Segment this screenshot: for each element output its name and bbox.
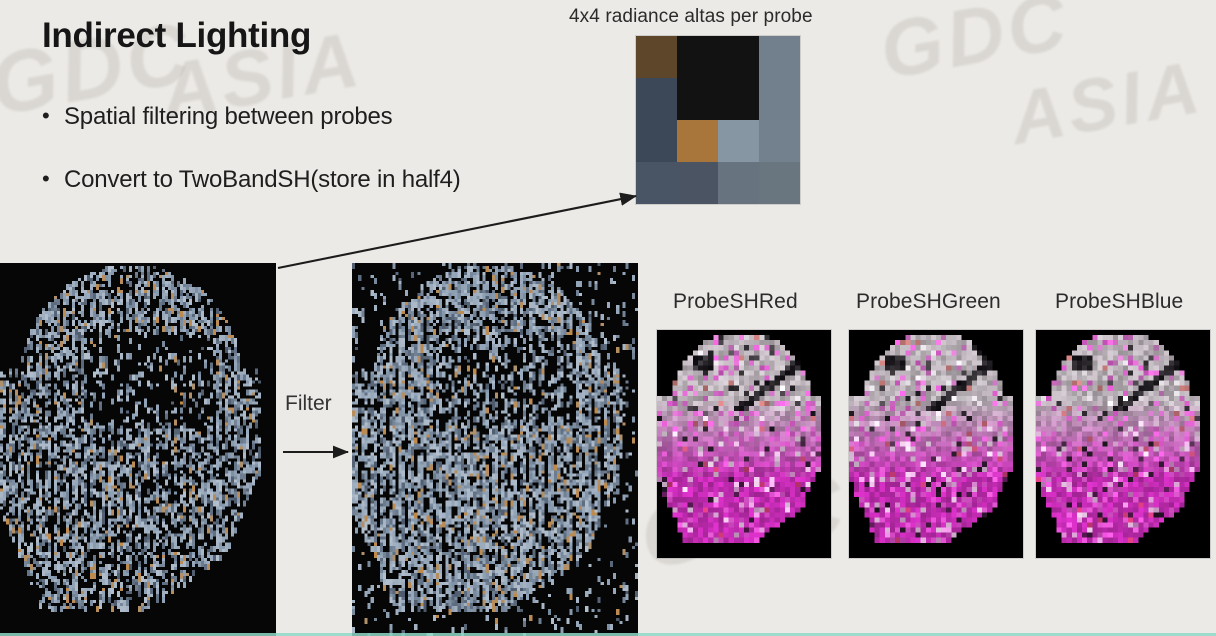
atlas-cell-0 <box>636 36 677 78</box>
atlas-cell-10 <box>718 120 759 162</box>
atlas-cell-2 <box>718 36 759 78</box>
atlas-cell-1 <box>677 36 718 78</box>
slide-canvas: GDC ASIA GDC ASIA GDC Indirect Lighting … <box>0 0 1216 636</box>
sh-label-red: ProbeSHRed <box>673 290 798 314</box>
watermark-3: ASIA <box>1004 44 1209 161</box>
bullet-item-0: • Spatial filtering between probes <box>42 103 392 131</box>
probe-texture-unfiltered-canvas <box>0 263 276 636</box>
atlas-cell-14 <box>718 162 759 204</box>
sh-image-green-canvas <box>849 330 1023 558</box>
atlas-cell-11 <box>759 120 800 162</box>
probe-texture-filtered-canvas <box>352 263 638 636</box>
probe-texture-filtered <box>352 263 638 636</box>
atlas-caption: 4x4 radiance altas per probe <box>569 6 813 28</box>
sh-label-green: ProbeSHGreen <box>856 290 1001 314</box>
page-title: Indirect Lighting <box>42 16 311 56</box>
bullet-text-1: Convert to TwoBandSH(store in half4) <box>64 166 461 194</box>
atlas-cell-7 <box>759 78 800 120</box>
bullet-text-0: Spatial filtering between probes <box>64 103 392 131</box>
atlas-cell-5 <box>677 78 718 120</box>
atlas-cell-4 <box>636 78 677 120</box>
bullet-marker-icon: • <box>42 166 64 191</box>
sh-image-blue <box>1036 330 1210 558</box>
watermark-2: GDC <box>873 0 1076 98</box>
atlas-cell-6 <box>718 78 759 120</box>
atlas-cell-3 <box>759 36 800 78</box>
sh-image-red <box>657 330 831 558</box>
filter-label: Filter <box>285 392 332 416</box>
bullet-marker-icon: • <box>42 103 64 128</box>
bullet-item-1: • Convert to TwoBandSH(store in half4) <box>42 166 461 194</box>
atlas-cell-13 <box>677 162 718 204</box>
atlas-cell-9 <box>677 120 718 162</box>
sh-image-green <box>849 330 1023 558</box>
probe-texture-unfiltered <box>0 263 276 636</box>
atlas-cell-8 <box>636 120 677 162</box>
sh-label-blue: ProbeSHBlue <box>1055 290 1183 314</box>
atlas-cell-12 <box>636 162 677 204</box>
sh-image-blue-canvas <box>1036 330 1210 558</box>
radiance-atlas-grid <box>636 36 800 204</box>
sh-image-red-canvas <box>657 330 831 558</box>
atlas-cell-15 <box>759 162 800 204</box>
